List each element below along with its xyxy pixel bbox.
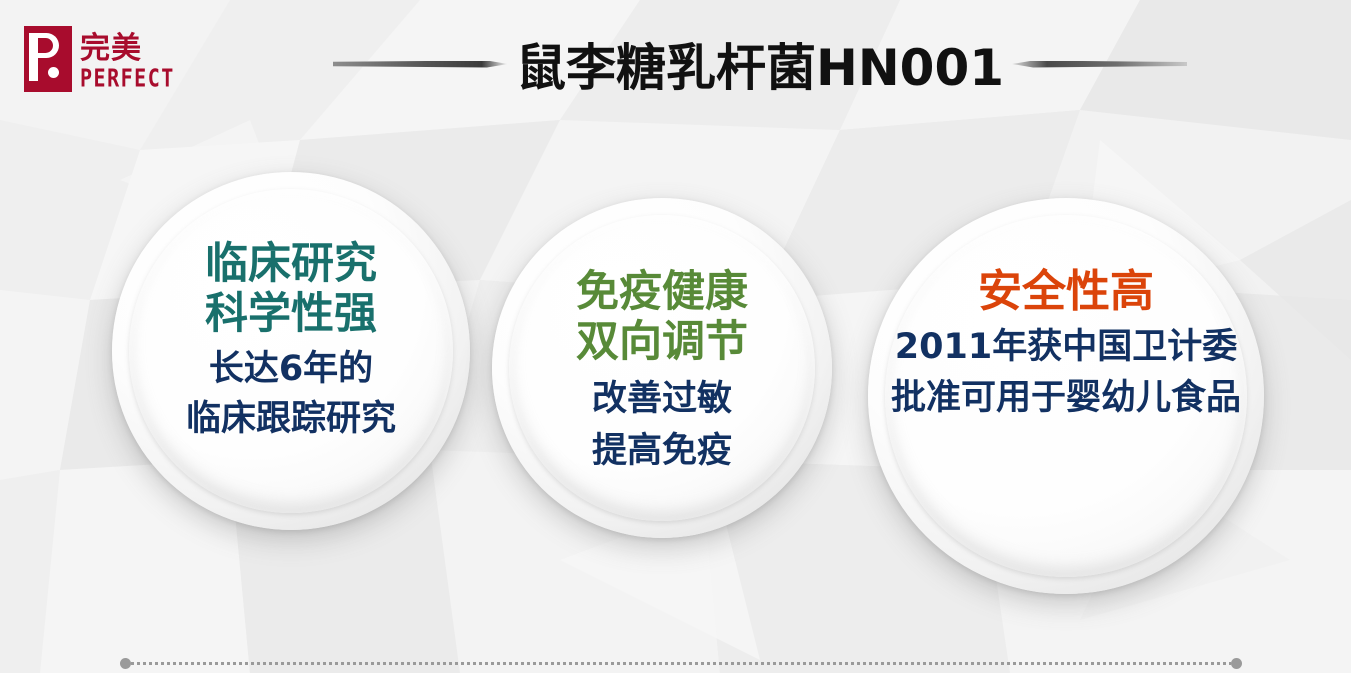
feature-bubble-immune-health[interactable]: 免疫健康 双向调节 改善过敏 提高免疫 [492,198,832,538]
feature-bubble-high-safety[interactable]: 安全性高 2011年获中国卫计委 批准可用于婴幼儿食品 [868,198,1264,594]
feature-bubble-group: 临床研究 科学性强 长达6年的 临床跟踪研究 免疫健康 双向调节 改善过敏 提高… [0,0,1351,673]
bubble-subtext-line-2: 批准可用于婴幼儿食品 [891,377,1241,419]
bubble-heading-line-1: 安全性高 [978,266,1154,317]
bubble-subtext-line-1: 2011年获中国卫计委 [895,326,1237,368]
feature-bubble-clinical-research[interactable]: 临床研究 科学性强 长达6年的 临床跟踪研究 [112,172,470,530]
dotted-rule-line [131,662,1231,665]
bubble-text-block: 安全性高 2011年获中国卫计委 批准可用于婴幼儿食品 [856,198,1276,594]
footer-dotted-rule [120,657,1242,669]
bubble-heading-line-2: 双向调节 [576,318,748,368]
bubble-subtext-line-2: 提高免疫 [592,430,732,472]
bubble-heading-line-2: 科学性强 [205,290,377,340]
bubble-subtext-line-1: 长达6年的 [209,348,373,390]
bubble-subtext-line-2: 临床跟踪研究 [186,398,396,440]
bubble-heading-line-1: 免疫健康 [576,268,748,318]
bubble-text-block: 临床研究 科学性强 长达6年的 临床跟踪研究 [112,172,470,530]
dotted-rule-left-dot-icon [120,658,131,669]
bubble-text-block: 免疫健康 双向调节 改善过敏 提高免疫 [492,198,832,538]
bubble-heading-line-1: 临床研究 [205,240,377,290]
bubble-subtext-line-1: 改善过敏 [592,378,732,420]
dotted-rule-right-dot-icon [1231,658,1242,669]
slide-canvas: 完美 PERFECT 鼠李糖乳杆菌HN001 临床研究 科学性强 长达6年的 临… [0,0,1351,673]
